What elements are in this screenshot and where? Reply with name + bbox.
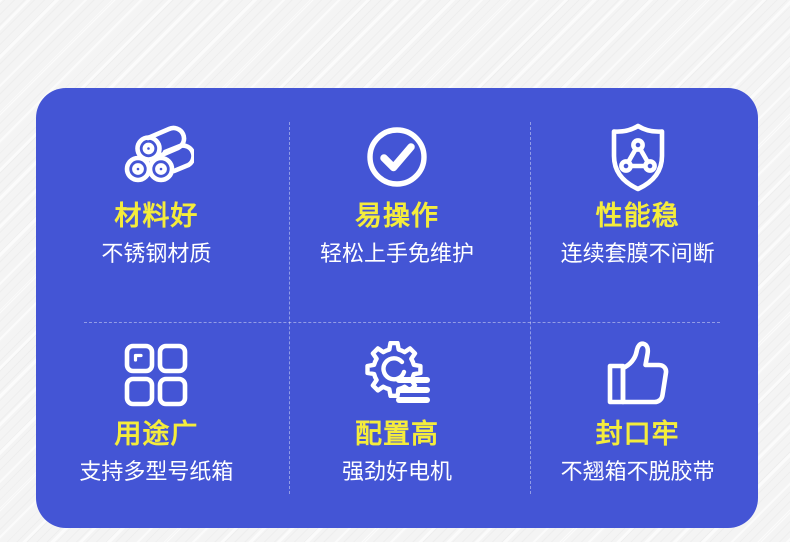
divider-horizontal bbox=[84, 322, 720, 323]
steel-rolls-icon bbox=[118, 118, 194, 196]
check-circle-icon bbox=[361, 118, 433, 196]
feature-title: 配置高 bbox=[355, 420, 439, 450]
gear-settings-icon bbox=[362, 336, 432, 414]
grid-squares-icon bbox=[123, 336, 189, 414]
feature-title: 性能稳 bbox=[596, 202, 680, 232]
divider-vertical-right bbox=[530, 122, 531, 494]
thumbs-up-icon bbox=[606, 336, 670, 414]
feature-grid: 材料好 不锈钢材质 易操作 轻松上手免维护 bbox=[36, 88, 758, 528]
feature-subtitle: 连续套膜不间断 bbox=[561, 240, 715, 268]
feature-subtitle: 不翘箱不脱胶带 bbox=[561, 458, 715, 486]
feature-subtitle: 不锈钢材质 bbox=[101, 240, 211, 268]
divider-vertical-left bbox=[289, 122, 290, 494]
feature-cell-material[interactable]: 材料好 不锈钢材质 bbox=[36, 88, 277, 308]
feature-cell-firm-sealing[interactable]: 封口牢 不翘箱不脱胶带 bbox=[517, 308, 758, 528]
shield-network-icon bbox=[603, 118, 673, 196]
feature-cell-easy-operation[interactable]: 易操作 轻松上手免维护 bbox=[277, 88, 518, 308]
feature-subtitle: 强劲好电机 bbox=[342, 458, 452, 486]
feature-title: 用途广 bbox=[114, 420, 198, 450]
feature-cell-stable-performance[interactable]: 性能稳 连续套膜不间断 bbox=[517, 88, 758, 308]
feature-title: 材料好 bbox=[114, 202, 198, 232]
feature-card: 材料好 不锈钢材质 易操作 轻松上手免维护 bbox=[36, 88, 758, 528]
feature-cell-wide-use[interactable]: 用途广 支持多型号纸箱 bbox=[36, 308, 277, 528]
feature-subtitle: 轻松上手免维护 bbox=[320, 240, 474, 268]
feature-subtitle: 支持多型号纸箱 bbox=[79, 458, 233, 486]
feature-title: 封口牢 bbox=[596, 420, 680, 450]
feature-title: 易操作 bbox=[355, 202, 439, 232]
feature-cell-high-config[interactable]: 配置高 强劲好电机 bbox=[277, 308, 518, 528]
